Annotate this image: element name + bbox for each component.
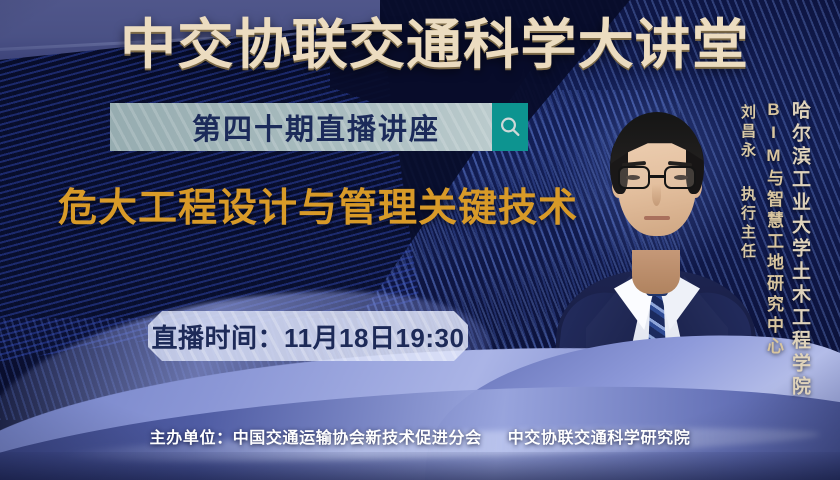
broadcast-time-banner: 直播时间：11月18日19:30 <box>148 311 468 361</box>
search-button[interactable] <box>492 103 528 151</box>
broadcast-time-text: 直播时间：11月18日19:30 <box>152 318 465 355</box>
speaker-organization: 哈尔滨工业大学土木工程学院 <box>786 100 813 399</box>
footer-org-2: 中交协联交通科学研究院 <box>508 430 691 447</box>
speaker-center: BIM与智慧工地研究中心 <box>761 100 786 358</box>
footer-org-1: 中国交通运输协会新技术促进分会 <box>233 430 482 447</box>
search-icon <box>498 115 522 139</box>
page-title: 中交协联交通科学大讲堂 <box>120 16 754 74</box>
speaker-role: 执行主任 <box>737 186 758 262</box>
footer-organizers: 主办单位：中国交通运输协会新技术促进分会中交协联交通科学研究院 <box>0 424 840 448</box>
search-bar[interactable]: 第四十期直播讲座 <box>110 103 528 151</box>
footer-label: 主办单位： <box>150 430 233 447</box>
search-field[interactable]: 第四十期直播讲座 <box>110 103 492 151</box>
speaker-name: 刘昌永 <box>737 104 758 161</box>
lecture-topic: 危大工程设计与管理关键技术 <box>58 186 618 232</box>
search-input-value: 第四十期直播讲座 <box>192 106 440 148</box>
live-lecture-poster: 中交协联交通科学大讲堂 第四十期直播讲座 危大工程设计与管理关键技术 直播时间：… <box>0 0 840 480</box>
